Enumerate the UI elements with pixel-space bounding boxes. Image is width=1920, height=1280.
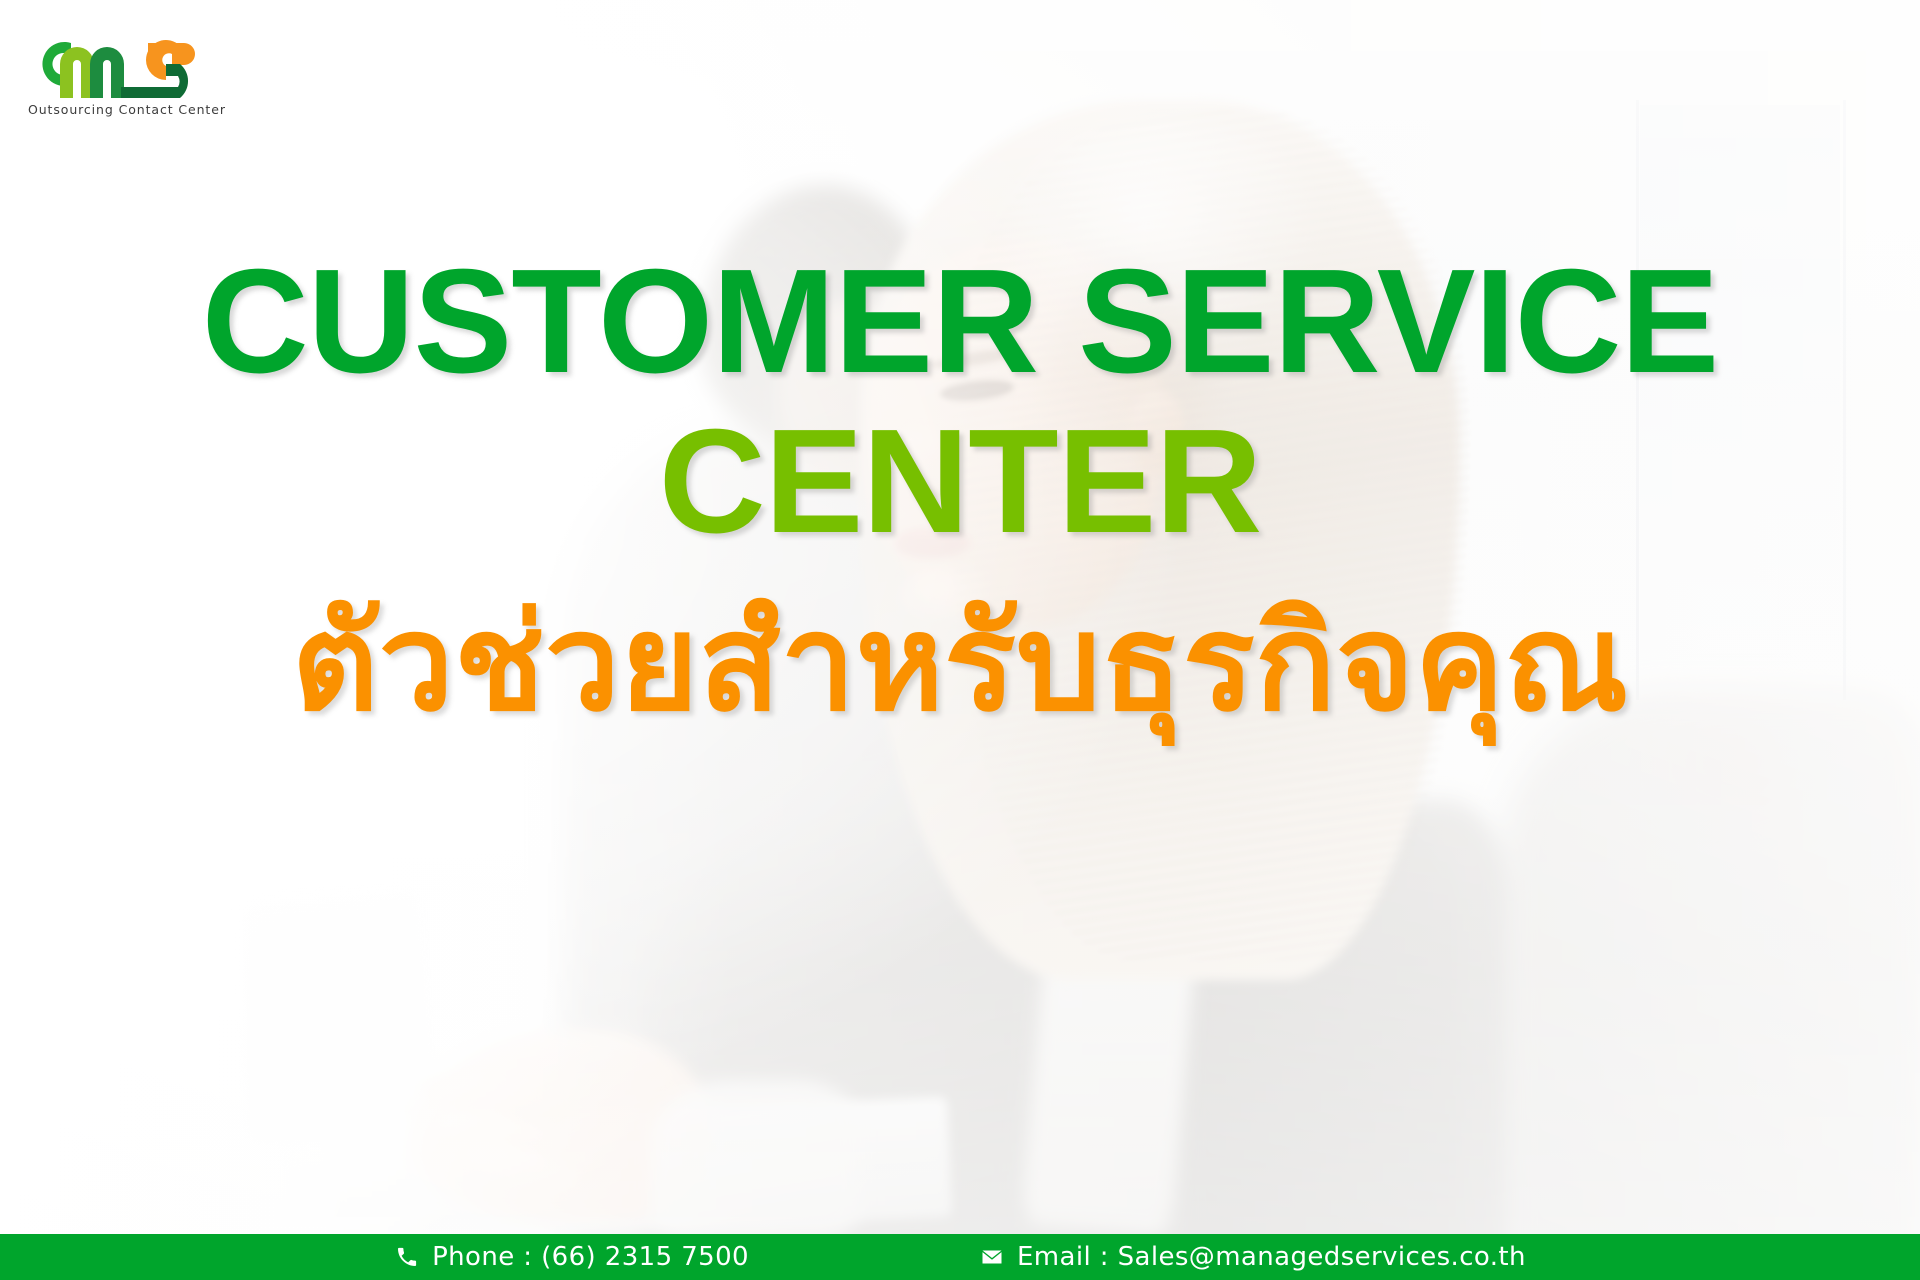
background-photo bbox=[0, 0, 1920, 1280]
contact-footer-bar: Phone : (66) 2315 7500 Email : Sales@man… bbox=[0, 1234, 1920, 1280]
brand-tagline: Outsourcing Contact Center bbox=[28, 102, 206, 117]
brand-logo[interactable]: Outsourcing Contact Center bbox=[28, 30, 218, 117]
footer-phone-label: Phone : (66) 2315 7500 bbox=[432, 1242, 749, 1272]
footer-phone[interactable]: Phone : (66) 2315 7500 bbox=[394, 1242, 749, 1272]
phone-icon bbox=[394, 1244, 420, 1270]
banner-canvas: Outsourcing Contact Center CUSTOMER SERV… bbox=[0, 0, 1920, 1280]
envelope-icon bbox=[979, 1244, 1005, 1270]
cms-logo-icon bbox=[28, 30, 200, 98]
footer-email-label: Email : Sales@managedservices.co.th bbox=[1017, 1242, 1526, 1272]
photo-white-veil-secondary bbox=[0, 0, 1920, 1280]
footer-email[interactable]: Email : Sales@managedservices.co.th bbox=[979, 1242, 1526, 1272]
